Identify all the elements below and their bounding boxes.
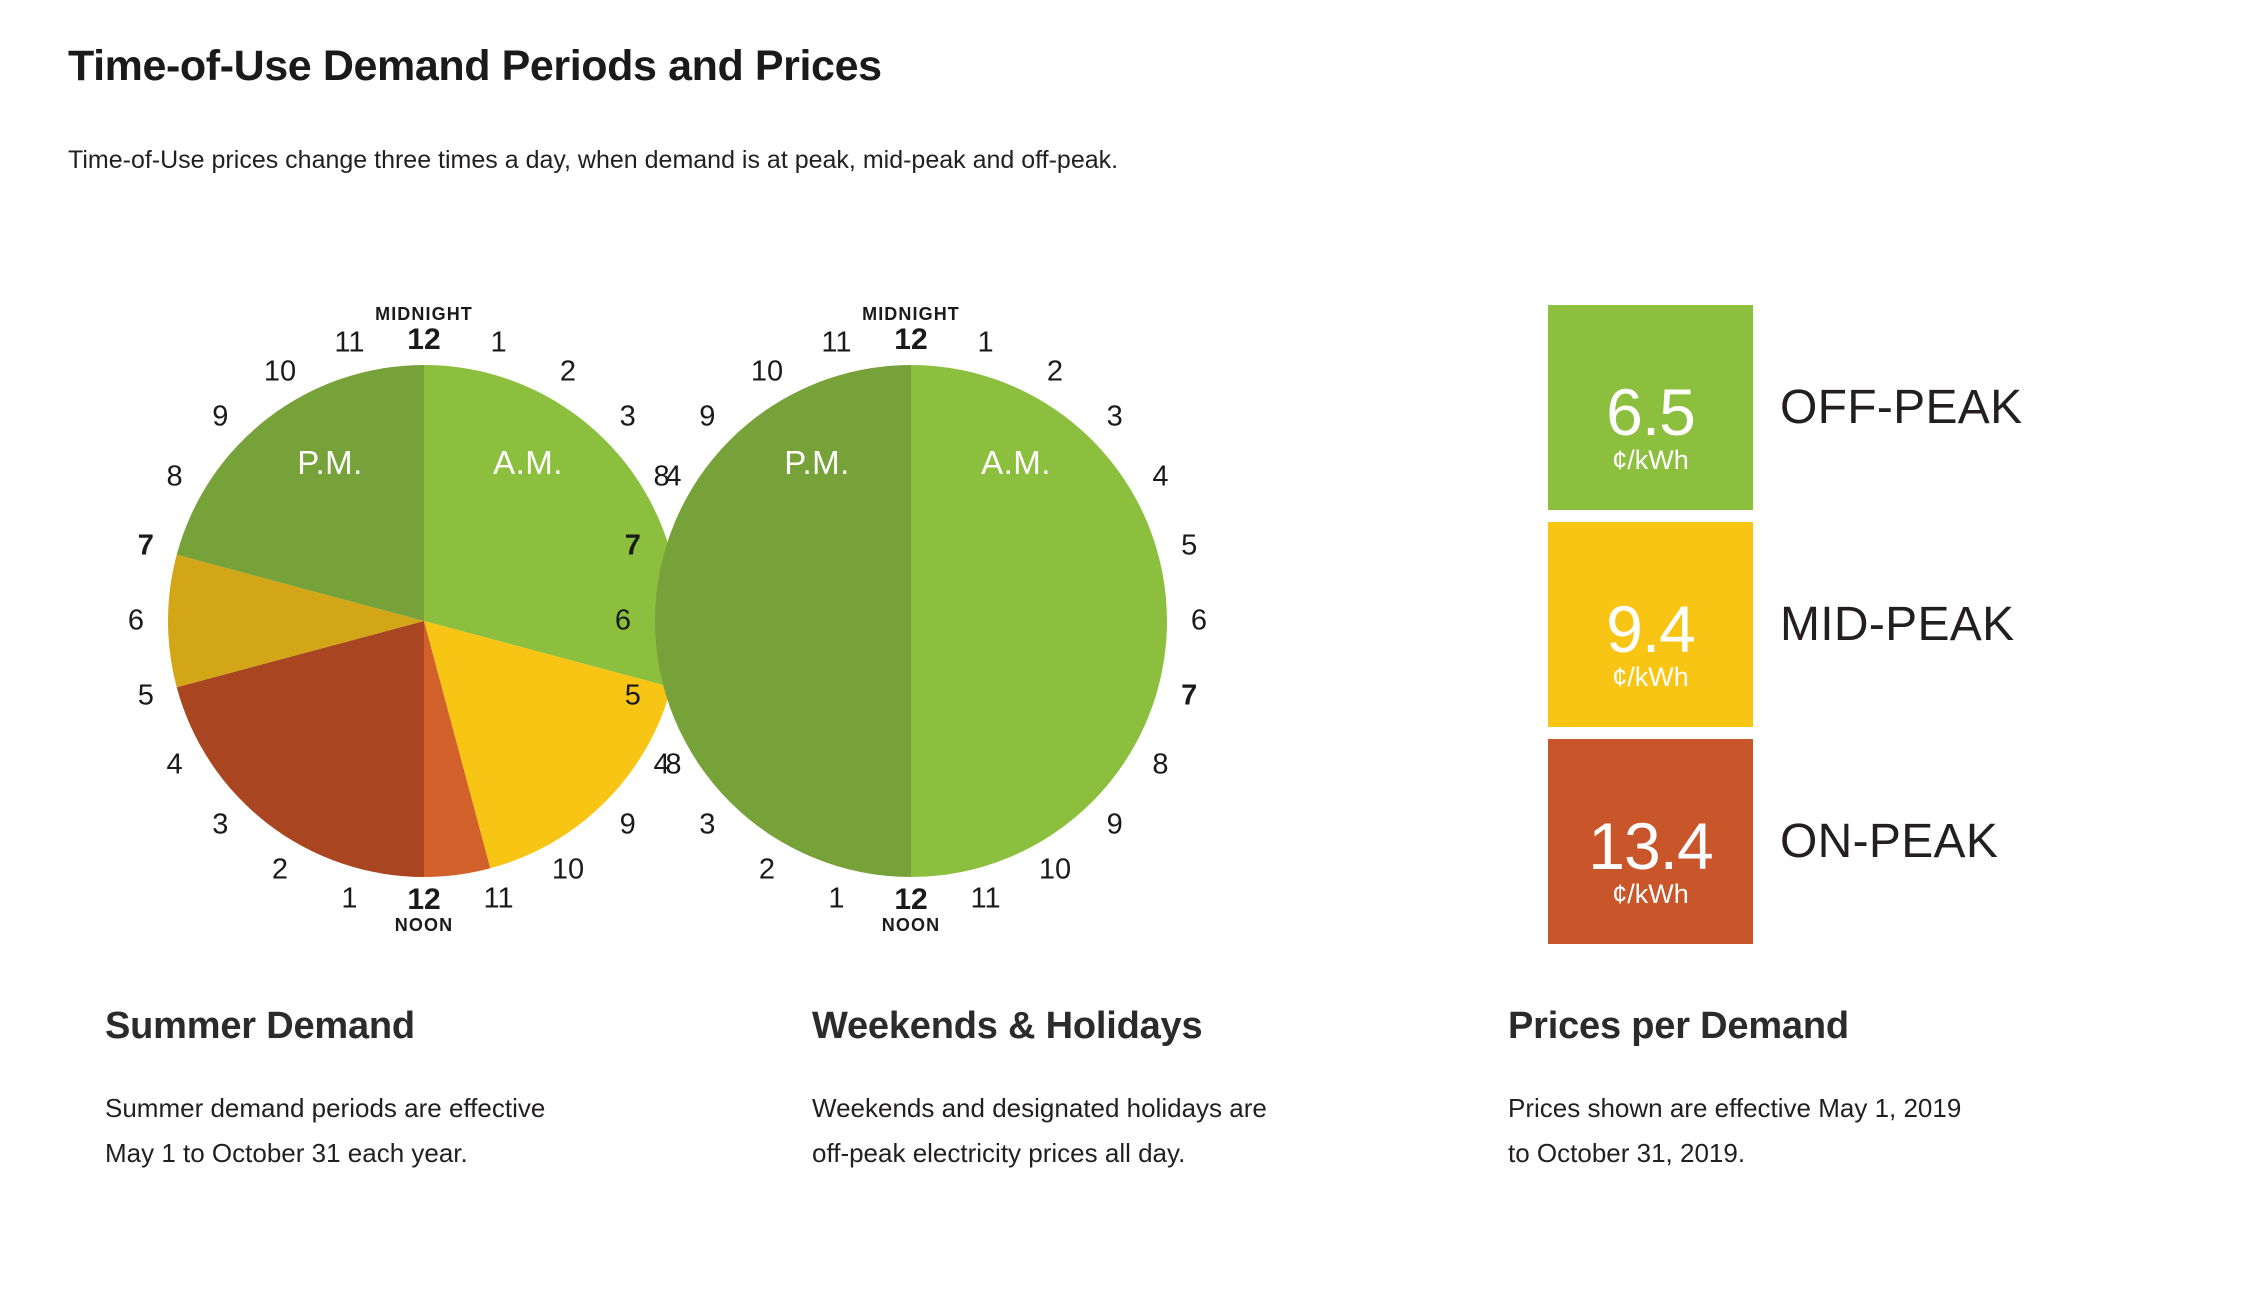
hour-label-23: 11 <box>334 328 364 357</box>
column-body-line1-summer: Summer demand periods are effective <box>105 1086 745 1131</box>
legend-swatch-mid-peak: 9.4 ¢/kWh <box>1548 522 1753 727</box>
hour-label-11: 11 <box>483 885 513 914</box>
clock2-am-label: A.M. <box>981 444 1051 482</box>
hour-label-22: 10 <box>264 357 296 386</box>
legend-swatch-off-peak: 6.5 ¢/kWh <box>1548 305 1753 510</box>
hour-label-17: 5 <box>625 681 641 710</box>
clock1-noon-caption: NOON <box>395 916 453 935</box>
clock1-am-label: A.M. <box>493 444 563 482</box>
column-title-summer-demand: Summer Demand <box>105 1005 745 1048</box>
hour-label-16: 4 <box>654 751 670 780</box>
hour-label-17: 5 <box>138 681 154 710</box>
column-body-line2-weekends: off-peak electricity prices all day. <box>812 1131 1452 1176</box>
hour-label-14: 2 <box>272 856 288 885</box>
clock2-midnight-caption: MIDNIGHT <box>862 305 960 324</box>
hour-label-20: 8 <box>167 463 183 492</box>
page-title: Time-of-Use Demand Periods and Prices <box>68 42 882 91</box>
hour-label-16: 4 <box>167 751 183 780</box>
column-body-line2-summer: May 1 to October 31 each year. <box>105 1131 745 1176</box>
column-body-weekends-holidays: Weekends and designated holidays are off… <box>812 1086 1452 1175</box>
hour-label-21: 9 <box>212 403 228 432</box>
hour-label-1: 1 <box>490 328 506 357</box>
page-subtitle: Time-of-Use prices change three times a … <box>68 146 1118 175</box>
hour-label-14: 2 <box>759 856 775 885</box>
hour-label-4: 4 <box>1152 463 1168 492</box>
summer-demand-clock <box>168 365 680 877</box>
hour-label-18: 6 <box>128 607 144 636</box>
hour-label-13: 1 <box>341 885 357 914</box>
hour-label-6: 6 <box>1191 607 1207 636</box>
summer-demand-pie <box>168 365 680 877</box>
hour-label-15: 3 <box>212 810 228 839</box>
hour-label-15: 3 <box>699 810 715 839</box>
infographic-page: Time-of-Use Demand Periods and Prices Ti… <box>0 0 2242 1303</box>
column-prices-per-demand: Prices per Demand Prices shown are effec… <box>1508 1005 2148 1175</box>
clock2-noon-caption: NOON <box>882 916 940 935</box>
clock1-midnight-label: MIDNIGHT 12 <box>375 305 473 355</box>
legend-price-on-peak: 13.4 <box>1548 813 1753 879</box>
clock1-pm-label: P.M. <box>297 444 363 482</box>
hour-label-5: 5 <box>1181 532 1197 561</box>
clock2-midnight-label: MIDNIGHT 12 <box>862 305 960 355</box>
hour-label-2: 2 <box>1047 357 1063 386</box>
column-title-weekends-holidays: Weekends & Holidays <box>812 1005 1452 1048</box>
legend-unit-on-peak: ¢/kWh <box>1548 881 1753 908</box>
hour-label-10: 10 <box>1039 856 1071 885</box>
column-body-line2-prices: to October 31, 2019. <box>1508 1131 2148 1176</box>
legend-label-on-peak: ON-PEAK <box>1780 739 1998 944</box>
legend-price-mid-peak: 9.4 <box>1548 596 1753 662</box>
clock1-noon-hour: 12 <box>395 884 453 916</box>
hour-label-21: 9 <box>699 403 715 432</box>
hour-label-23: 11 <box>821 328 851 357</box>
hour-label-1: 1 <box>977 328 993 357</box>
hour-label-10: 10 <box>552 856 584 885</box>
column-body-prices-per-demand: Prices shown are effective May 1, 2019 t… <box>1508 1086 2148 1175</box>
legend-label-off-peak: OFF-PEAK <box>1780 305 2022 510</box>
hour-label-7: 7 <box>1181 681 1197 710</box>
legend-label-mid-peak: MID-PEAK <box>1780 522 2014 727</box>
pie-segment-off-peak-0 <box>911 365 1167 877</box>
hour-label-11: 11 <box>970 885 1000 914</box>
hour-label-19: 7 <box>138 532 154 561</box>
column-body-line1-weekends: Weekends and designated holidays are <box>812 1086 1452 1131</box>
hour-label-3: 3 <box>620 403 636 432</box>
hour-label-20: 8 <box>654 463 670 492</box>
hour-label-9: 9 <box>1107 810 1123 839</box>
clock1-midnight-hour: 12 <box>375 324 473 356</box>
column-body-summer-demand: Summer demand periods are effective May … <box>105 1086 745 1175</box>
legend-unit-off-peak: ¢/kWh <box>1548 447 1753 474</box>
hour-label-3: 3 <box>1107 403 1123 432</box>
legend-price-off-peak: 6.5 <box>1548 379 1753 445</box>
clock2-midnight-hour: 12 <box>862 324 960 356</box>
weekends-holidays-clock <box>655 365 1167 877</box>
clock2-noon-hour: 12 <box>882 884 940 916</box>
hour-label-2: 2 <box>560 357 576 386</box>
pie-segment-off-peak-1 <box>655 365 911 877</box>
hour-label-8: 8 <box>1152 751 1168 780</box>
weekends-holidays-pie <box>655 365 1167 877</box>
hour-label-19: 7 <box>625 532 641 561</box>
hour-label-18: 6 <box>615 607 631 636</box>
legend-swatch-on-peak: 13.4 ¢/kWh <box>1548 739 1753 944</box>
column-title-prices-per-demand: Prices per Demand <box>1508 1005 2148 1048</box>
hour-label-9: 9 <box>620 810 636 839</box>
column-summer-demand: Summer Demand Summer demand periods are … <box>105 1005 745 1175</box>
column-body-line1-prices: Prices shown are effective May 1, 2019 <box>1508 1086 2148 1131</box>
clock2-pm-label: P.M. <box>784 444 850 482</box>
clock2-noon-label: 12 NOON <box>882 884 940 934</box>
hour-label-13: 1 <box>828 885 844 914</box>
legend-unit-mid-peak: ¢/kWh <box>1548 664 1753 691</box>
clock1-noon-label: 12 NOON <box>395 884 453 934</box>
hour-label-22: 10 <box>751 357 783 386</box>
column-weekends-holidays: Weekends & Holidays Weekends and designa… <box>812 1005 1452 1175</box>
clock1-midnight-caption: MIDNIGHT <box>375 305 473 324</box>
